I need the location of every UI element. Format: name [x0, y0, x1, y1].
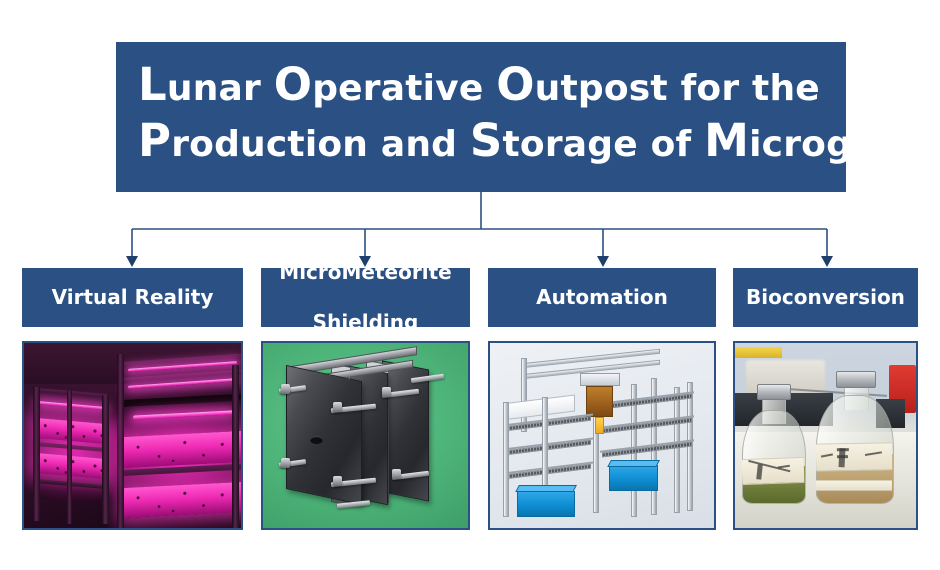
photo-automation	[488, 341, 716, 530]
title-cap-m: M	[704, 114, 749, 167]
branch-bioconversion[interactable]: Bioconversion	[733, 268, 918, 327]
arrowhead-4	[821, 256, 833, 267]
bioreactor-flasks-photo	[735, 343, 916, 528]
branch-label-text-auto-1: Automation	[536, 285, 668, 310]
title-rest-1a: unar	[167, 68, 274, 109]
vertical-farm-photo	[24, 343, 241, 528]
branch-micrometeorite-shielding[interactable]: MicroMeteorite Shielding	[261, 268, 470, 327]
title-line-1: Lunar Operative Outpost for the	[138, 61, 820, 117]
photo-bioconversion	[733, 341, 918, 530]
branch-automation[interactable]: Automation	[488, 268, 716, 327]
title-cap-o1: O	[274, 58, 312, 111]
title-banner: Lunar Operative Outpost for the Producti…	[116, 42, 846, 192]
branch-label-text-mms-1: MicroMeteorite	[279, 260, 451, 285]
title-line-2: Production and Storage of Microgreens	[138, 117, 940, 173]
photo-virtual-reality	[22, 341, 243, 530]
title-rest-1c: utpost for the	[535, 68, 820, 109]
branch-virtual-reality[interactable]: Virtual Reality	[22, 268, 243, 327]
title-cap-o2: O	[496, 58, 534, 111]
photo-micrometeorite-shielding	[261, 341, 470, 530]
title-cap-l: L	[138, 58, 167, 111]
title-rest-2a: roduction and	[171, 124, 470, 165]
title-cap-p: P	[138, 114, 171, 167]
arrowhead-3	[597, 256, 609, 267]
branch-label-automation[interactable]: Automation	[488, 268, 716, 327]
title-cap-s: S	[470, 114, 503, 167]
branch-label-text-vr-1: Virtual Reality	[52, 285, 214, 310]
branch-label-bioconversion[interactable]: Bioconversion	[733, 268, 918, 327]
title-rest-2c: icrogreens	[749, 124, 940, 165]
branch-label-micrometeorite-shielding[interactable]: MicroMeteorite Shielding	[261, 268, 470, 327]
shield-plates-photo	[263, 343, 468, 528]
slide-canvas: Lunar Operative Outpost for the Producti…	[0, 0, 940, 570]
branch-label-text-bio-1: Bioconversion	[746, 285, 905, 310]
arrowhead-1	[126, 256, 138, 267]
branch-label-virtual-reality[interactable]: Virtual Reality	[22, 268, 243, 327]
branch-label-text-mms-2: Shielding	[279, 310, 451, 335]
title-rest-1b: perative	[312, 68, 496, 109]
gantry-rack-render	[490, 343, 714, 528]
title-rest-2b: torage of	[503, 124, 705, 165]
